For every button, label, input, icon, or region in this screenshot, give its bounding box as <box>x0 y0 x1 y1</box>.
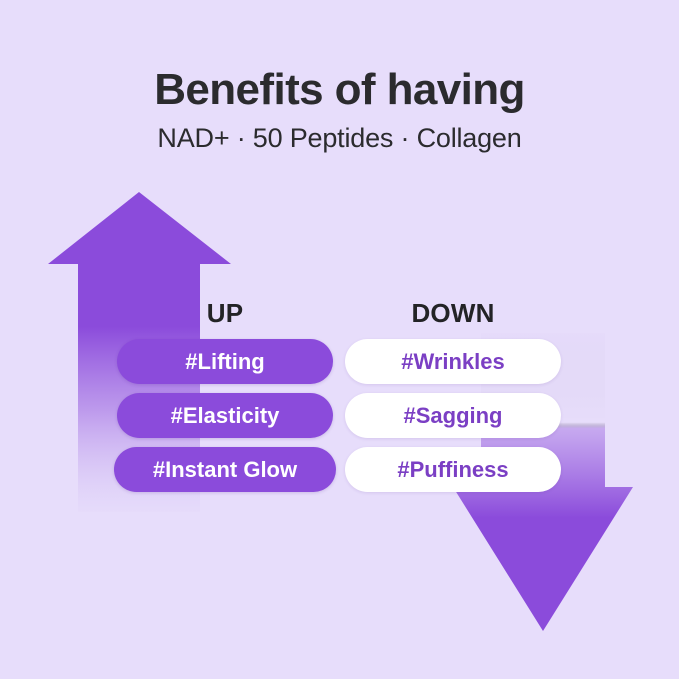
column-up-header: UP <box>117 296 333 330</box>
infographic-poster: Benefits of having NAD+ · 50 Peptides · … <box>0 0 679 679</box>
column-down: DOWN #Wrinkles #Sagging #Puffiness <box>345 296 561 492</box>
pill-wrinkles[interactable]: #Wrinkles <box>345 339 561 384</box>
pill-instant-glow[interactable]: #Instant Glow <box>114 447 336 492</box>
pill-lifting[interactable]: #Lifting <box>117 339 333 384</box>
pill-elasticity[interactable]: #Elasticity <box>117 393 333 438</box>
pill-puffiness[interactable]: #Puffiness <box>345 447 561 492</box>
column-up: UP #Lifting #Elasticity #Instant Glow <box>117 296 333 492</box>
columns: UP #Lifting #Elasticity #Instant Glow DO… <box>0 0 679 679</box>
pill-sagging[interactable]: #Sagging <box>345 393 561 438</box>
column-down-header: DOWN <box>345 296 561 330</box>
